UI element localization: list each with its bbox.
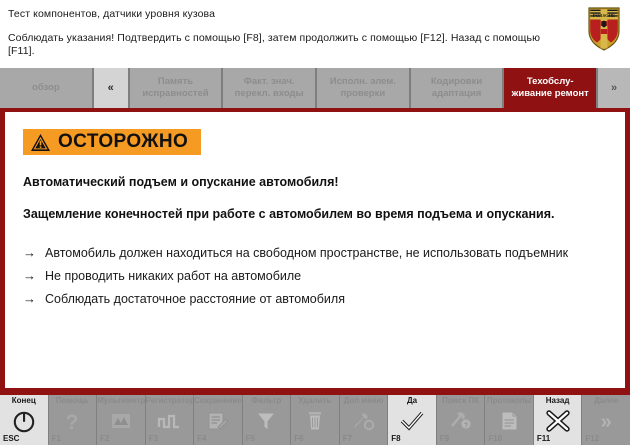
- toolbar-button-key: F7: [343, 434, 352, 444]
- checkmark-icon: [399, 409, 425, 433]
- toolbar-button-multimeter[interactable]: Мультиметр F2: [97, 395, 145, 445]
- toolbar-button-label: Мультиметр: [97, 396, 145, 406]
- svg-text:?: ?: [463, 422, 467, 429]
- toolbar-button-delete[interactable]: Удалить F6: [291, 395, 339, 445]
- list-item: → Соблюдать достаточное расстояние от ав…: [23, 291, 588, 307]
- tab-actual-values[interactable]: Факт. знач.перекл. входы: [223, 68, 315, 108]
- arrow-right-icon: →: [23, 291, 45, 307]
- toolbar-button-protocols[interactable]: Протоколы F10: [485, 395, 533, 445]
- toolbar-button-filter[interactable]: Фильтр F5: [243, 395, 291, 445]
- toolbar-button-yes[interactable]: Да F8: [388, 395, 436, 445]
- toolbar-button-label: Поиск ПК: [437, 396, 485, 406]
- question-icon: ?: [59, 409, 85, 433]
- toolbar-button-label: Протоколы: [485, 396, 533, 406]
- toolbar-button-key: F11: [537, 434, 550, 444]
- toolbar-button-key: F9: [440, 434, 449, 444]
- cross-icon: [545, 409, 571, 433]
- save-note-icon: [205, 409, 231, 433]
- toolbar-button-key: F5: [246, 434, 255, 444]
- toolbar-button-label: Доп меню: [340, 396, 388, 406]
- function-key-toolbar: Конец ESC Помощь ? F1 Мультиметр F2 Реги…: [0, 392, 630, 445]
- toolbar-button-extra-menu[interactable]: Доп меню F7: [340, 395, 388, 445]
- tab-coding-adaptation[interactable]: Кодировкиадаптация: [411, 68, 503, 108]
- double-chevron-left-icon: «: [108, 82, 114, 94]
- tab-label: Памятьисправностей: [142, 76, 208, 100]
- double-chevron-right-icon: »: [601, 411, 612, 433]
- toolbar-button-label: Фильтр: [243, 396, 291, 406]
- tab-actuator-tests[interactable]: Исполн. элем.проверки: [317, 68, 409, 108]
- toolbar-button-label: Да: [388, 396, 436, 406]
- tab-label: Техобслу-живание ремонт: [512, 76, 589, 100]
- toolbar-button-key: ESC: [3, 434, 19, 444]
- list-item: → Автомобиль должен находиться на свобод…: [23, 245, 588, 261]
- svg-text:PORSCHE: PORSCHE: [593, 13, 615, 18]
- header: Тест компонентов, датчики уровня кузова …: [0, 0, 630, 68]
- warning-banner: ОСТОРОЖНО: [23, 129, 201, 155]
- tabs-prev-button[interactable]: «: [94, 68, 128, 108]
- tab-bar: обзор « Памятьисправностей Факт. знач.пе…: [0, 68, 630, 108]
- multimeter-icon: [108, 409, 134, 433]
- tab-label: Исполн. элем.проверки: [330, 76, 396, 100]
- tab-obzor[interactable]: обзор: [0, 68, 92, 108]
- tab-label: обзор: [32, 82, 60, 94]
- tab-maintenance-repair[interactable]: Техобслу-живание ремонт: [504, 68, 596, 108]
- toolbar-button-back[interactable]: Назад F11: [534, 395, 582, 445]
- tab-label: Факт. знач.перекл. входы: [235, 76, 304, 100]
- waveform-icon: [156, 409, 182, 433]
- toolbar-button-label: Помощь: [49, 396, 97, 406]
- list-item-text: Не проводить никаких работ на автомобиле: [45, 268, 588, 284]
- toolbar-button-help[interactable]: Помощь ? F1: [49, 395, 97, 445]
- warning-triangle-icon: [30, 133, 51, 152]
- toolbar-button-pc-search[interactable]: Поиск ПК ? F9: [437, 395, 485, 445]
- double-chevron-right-icon: »: [611, 82, 617, 94]
- toolbar-button-key: F2: [100, 434, 109, 444]
- instruction-list: → Автомобиль должен находиться на свобод…: [23, 245, 607, 307]
- list-item-text: Соблюдать достаточное расстояние от авто…: [45, 291, 588, 307]
- toolbar-button-label: Сохранение: [194, 396, 242, 406]
- arrow-right-icon: →: [23, 268, 45, 284]
- piwis-diagnostic-window: Тест компонентов, датчики уровня кузова …: [0, 0, 630, 445]
- toolbar-button-label: Регистратор: [146, 396, 194, 406]
- list-item: → Не проводить никаких работ на автомоби…: [23, 268, 588, 284]
- svg-text:?: ?: [66, 411, 79, 433]
- trash-icon: [302, 409, 328, 433]
- toolbar-button-save[interactable]: Сохранение F4: [194, 395, 242, 445]
- porsche-crest-icon: PORSCHE: [587, 7, 621, 51]
- toolbar-button-label: Конец: [0, 396, 48, 406]
- power-icon: [11, 409, 37, 433]
- pc-search-icon: ?: [448, 409, 474, 433]
- toolbar-button-key: F10: [488, 434, 502, 444]
- toolbar-button-key: F3: [149, 434, 158, 444]
- warning-paragraph-2: Защемление конечностей при работе с авто…: [23, 206, 583, 223]
- tab-label: Кодировкиадаптация: [431, 76, 482, 100]
- tabs-next-button[interactable]: »: [598, 68, 630, 108]
- toolbar-button-label: Далее: [582, 396, 630, 406]
- toolbar-button-recorder[interactable]: Регистратор F3: [146, 395, 194, 445]
- document-icon: [496, 409, 522, 433]
- page-title: Тест компонентов, датчики уровня кузова: [8, 7, 630, 21]
- toolbar-button-label: Удалить: [291, 396, 339, 406]
- toolbar-button-key: F12: [585, 434, 599, 444]
- list-item-text: Автомобиль должен находиться на свободно…: [45, 245, 588, 261]
- toolbar-button-label: Назад: [534, 396, 582, 406]
- warning-label: ОСТОРОЖНО: [58, 132, 188, 152]
- toolbar-button-end[interactable]: Конец ESC: [0, 395, 48, 445]
- content-frame: ОСТОРОЖНО Автоматический подъем и опуска…: [0, 108, 630, 392]
- instruction-text: Соблюдать указания! Подтвердить с помощь…: [8, 32, 568, 58]
- warning-paragraph-1: Автоматический подъем и опускание автомо…: [23, 174, 583, 191]
- toolbar-button-key: F4: [197, 434, 206, 444]
- funnel-icon: [253, 409, 279, 433]
- tab-fault-memory[interactable]: Памятьисправностей: [130, 68, 222, 108]
- tools-icon: [350, 409, 376, 433]
- arrow-right-icon: →: [23, 245, 45, 261]
- toolbar-button-key: F6: [294, 434, 303, 444]
- content-panel: ОСТОРОЖНО Автоматический подъем и опуска…: [5, 112, 625, 388]
- toolbar-button-key: F8: [391, 434, 400, 444]
- toolbar-button-key: F1: [52, 434, 61, 444]
- toolbar-button-next[interactable]: Далее » F12: [582, 395, 630, 445]
